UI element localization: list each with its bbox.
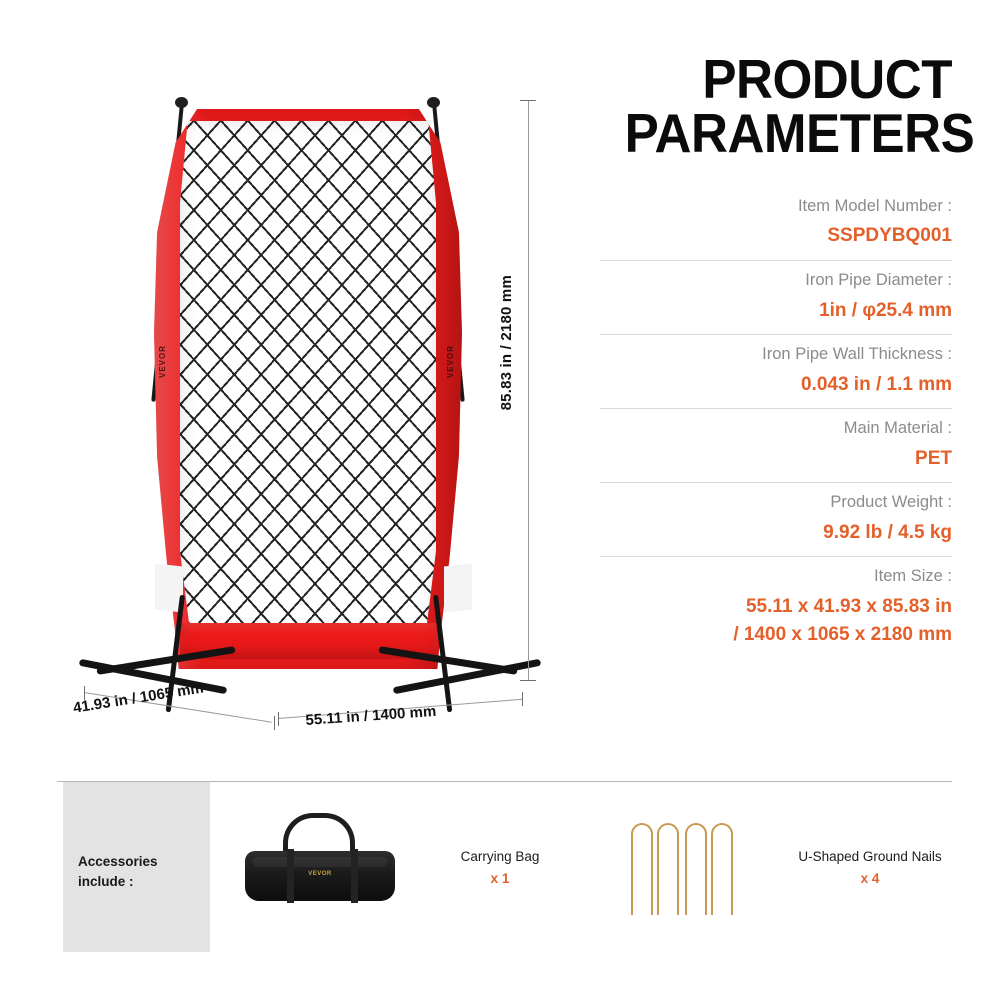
- height-dimension-label: 85.83 in / 2180 mm: [498, 275, 515, 410]
- width-dimension-label: 55.11 in / 1400 mm: [305, 703, 437, 729]
- vevor-logo-left: VEVOR: [158, 345, 167, 378]
- nails-group: [629, 823, 749, 923]
- height-dimension-cap-top: [520, 100, 536, 101]
- spec-row-model: Item Model Number : SSPDYBQ001: [600, 187, 952, 261]
- accessory-name: U-Shaped Ground Nails: [785, 849, 955, 864]
- spec-label: Iron Pipe Diameter :: [600, 268, 952, 294]
- page-title: PRODUCT PARAMETERS: [625, 52, 952, 161]
- spec-value: 9.92 lb / 4.5 kg: [600, 519, 952, 548]
- carrying-bag-caption: Carrying Bag x 1: [415, 849, 585, 886]
- spec-row-main-material: Main Material : PET: [600, 409, 952, 483]
- spec-row-item-size: Item Size : 55.11 x 41.93 x 85.83 in / 1…: [600, 557, 952, 659]
- spec-value-line2: / 1400 x 1065 x 2180 mm: [600, 621, 952, 650]
- spec-label: Main Material :: [600, 416, 952, 442]
- diamond-mesh-pattern: [180, 121, 436, 633]
- net-mesh-window: [180, 121, 436, 633]
- safety-net-screen: VEVOR VEVOR: [128, 95, 488, 675]
- bag-vevor-logo: VEVOR: [298, 871, 342, 886]
- spec-value: 55.11 x 41.93 x 85.83 in / 1400 x 1065 x…: [600, 593, 952, 650]
- height-dimension-cap-bottom: [520, 680, 536, 681]
- accessories-items: VEVOR Carrying Bag x 1 U-Shaped Ground N…: [215, 782, 955, 952]
- spec-row-pipe-diameter: Iron Pipe Diameter : 1in / φ25.4 mm: [600, 261, 952, 335]
- spec-value: 1in / φ25.4 mm: [600, 297, 952, 326]
- vevor-logo-right: VEVOR: [446, 345, 455, 378]
- width-dimension-cap-right: [522, 692, 523, 706]
- spec-label: Product Weight :: [600, 490, 952, 516]
- accessories-title: Accessories include :: [78, 852, 158, 891]
- depth-dimension-label: 41.93 in / 1065 mm: [72, 679, 205, 716]
- spec-value: PET: [600, 445, 952, 474]
- accessory-qty: x 4: [785, 871, 955, 886]
- ground-nails-image: [585, 797, 785, 937]
- accessory-ground-nails: U-Shaped Ground Nails x 4: [585, 797, 955, 937]
- spec-value: SSPDYBQ001: [600, 222, 952, 251]
- spec-row-product-weight: Product Weight : 9.92 lb / 4.5 kg: [600, 483, 952, 557]
- product-illustration: VEVOR VEVOR 85.83 in / 2180 mm 41.93 in …: [0, 0, 580, 770]
- spec-label: Iron Pipe Wall Thickness :: [600, 342, 952, 368]
- pole-cap-left: [175, 97, 188, 108]
- spec-label: Item Size :: [600, 564, 952, 590]
- depth-dimension-cap-right: [274, 716, 275, 730]
- pole-cap-right: [427, 97, 440, 108]
- ground-nails-caption: U-Shaped Ground Nails x 4: [785, 849, 955, 886]
- carrying-bag-image: VEVOR: [215, 797, 415, 937]
- width-dimension-cap-left: [278, 712, 279, 726]
- product-spec-page: VEVOR VEVOR 85.83 in / 2180 mm 41.93 in …: [0, 0, 1000, 1000]
- accessory-name: Carrying Bag: [415, 849, 585, 864]
- ground-nail-icon: [685, 823, 707, 915]
- bag-strap-right: [351, 849, 358, 903]
- spec-row-wall-thickness: Iron Pipe Wall Thickness : 0.043 in / 1.…: [600, 335, 952, 409]
- height-dimension-line: [528, 100, 529, 680]
- spec-value: 0.043 in / 1.1 mm: [600, 371, 952, 400]
- ground-nail-icon: [657, 823, 679, 915]
- product-parameters-panel: PRODUCT PARAMETERS Item Model Number : S…: [600, 52, 952, 659]
- page-title-line1: PRODUCT: [702, 48, 952, 110]
- spec-label: Item Model Number :: [600, 194, 952, 220]
- ground-nail-icon: [711, 823, 733, 915]
- ground-nail-icon: [631, 823, 653, 915]
- white-fabric-patch-right: [444, 564, 472, 613]
- spec-list: Item Model Number : SSPDYBQ001 Iron Pipe…: [600, 187, 952, 659]
- accessory-carrying-bag: VEVOR Carrying Bag x 1: [215, 797, 585, 937]
- accessory-qty: x 1: [415, 871, 585, 886]
- spec-value-line1: 55.11 x 41.93 x 85.83 in: [600, 593, 952, 622]
- page-title-line2: PARAMETERS: [625, 102, 975, 164]
- bag-strap-left: [287, 849, 294, 903]
